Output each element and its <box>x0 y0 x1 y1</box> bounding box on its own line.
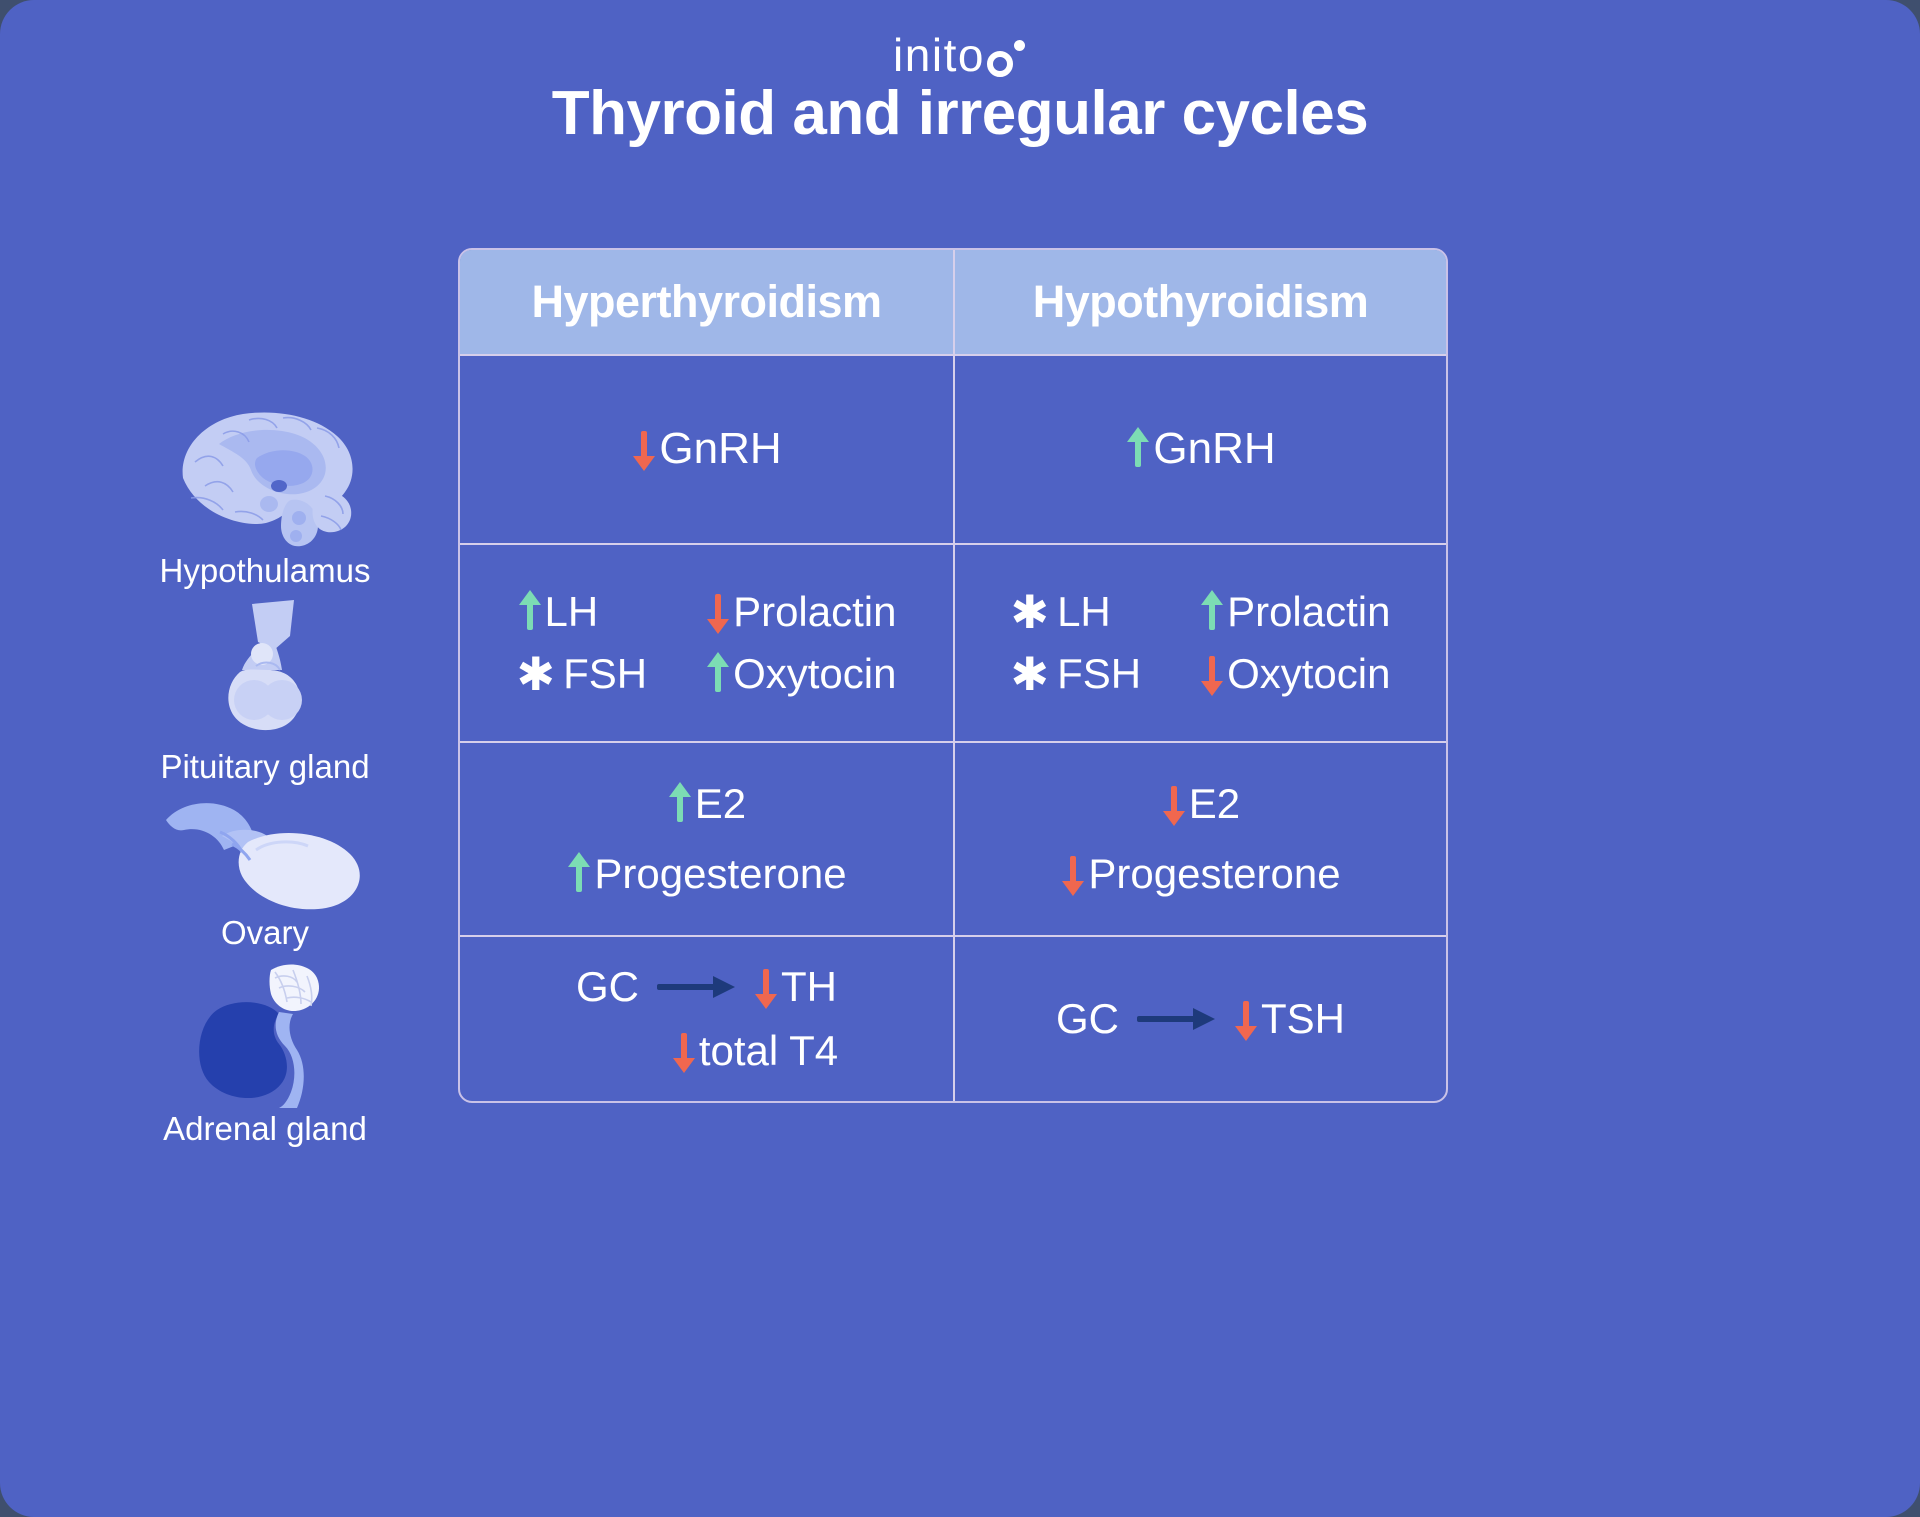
arrow-down-icon <box>1199 652 1225 696</box>
page-title: Thyroid and irregular cycles <box>0 78 1920 149</box>
infographic-page: inito Thyroid and irregular cycles <box>0 0 1920 1517</box>
arrow-down-icon <box>1233 997 1259 1041</box>
entry-label: Progesterone <box>1088 851 1340 897</box>
arrow-down-icon <box>1161 782 1187 826</box>
asterisk-icon: ✱ <box>1011 594 1050 631</box>
entry-lh-star: ✱ LH <box>1011 589 1142 635</box>
entry-label: TSH <box>1261 996 1345 1042</box>
header-label: Hyperthyroidism <box>531 276 881 328</box>
entry-e2-down: E2 <box>1161 781 1240 827</box>
adrenal-gland-icon <box>175 958 355 1108</box>
inito-logo-icon <box>987 38 1027 78</box>
arrow-down-icon <box>671 1029 697 1073</box>
entry-progesterone-up: Progesterone <box>566 851 846 897</box>
entry-progesterone-down: Progesterone <box>1060 851 1340 897</box>
entry-lh-up: LH <box>517 589 648 635</box>
entry-label: FSH <box>1057 651 1141 697</box>
entry-gc-th: GC TH <box>576 964 837 1010</box>
cell-hypo-adrenal: GC TSH <box>953 937 1446 1101</box>
header-label: Hypothyroidism <box>1033 276 1369 328</box>
cell-hypo-ovary: E2 Progesterone <box>953 743 1446 935</box>
anatomy-label-ovary: Ovary <box>221 914 309 952</box>
brand-name: inito <box>893 32 985 78</box>
arrow-up-icon <box>705 652 731 696</box>
cell-hyper-pituitary: LH Prolactin ✱ FSH Oxytocin <box>460 545 953 741</box>
table-row-adrenal: GC TH total T4 GC <box>460 935 1446 1101</box>
entry-label: E2 <box>1189 781 1240 827</box>
table-row-hypothalamus: GnRH GnRH <box>460 354 1446 543</box>
arrow-down-icon <box>1060 852 1086 896</box>
entry-oxytocin-down: Oxytocin <box>1199 651 1390 697</box>
comparison-table: Hyperthyroidism Hypothyroidism GnRH GnRH <box>458 248 1448 1103</box>
arrow-right-icon <box>1137 1009 1215 1029</box>
entry-gnrh-up: GnRH <box>1125 425 1275 473</box>
pituitary-gland-icon <box>190 596 340 746</box>
entry-prefix: GC <box>576 964 639 1010</box>
arrow-up-icon <box>517 590 543 634</box>
cell-hyper-ovary: E2 Progesterone <box>460 743 953 935</box>
entry-gc-tsh: GC TSH <box>1056 996 1345 1042</box>
arrow-down-icon <box>631 427 657 471</box>
entry-gnrh-down: GnRH <box>631 425 781 473</box>
anatomy-label-pituitary: Pituitary gland <box>160 748 369 786</box>
entry-total-t4: total T4 <box>671 1028 838 1074</box>
entry-fsh-star: ✱ FSH <box>1011 651 1142 697</box>
table-header-hyperthyroidism: Hyperthyroidism <box>460 250 953 354</box>
entry-label: Prolactin <box>1227 589 1390 635</box>
entry-label: LH <box>1057 589 1111 635</box>
arrow-up-icon <box>1125 427 1151 471</box>
entry-prolactin-up: Prolactin <box>1199 589 1390 635</box>
brand-logo: inito <box>0 32 1920 78</box>
asterisk-icon: ✱ <box>517 656 556 693</box>
entry-label: LH <box>545 589 599 635</box>
cell-hyper-adrenal: GC TH total T4 <box>460 937 953 1101</box>
entry-fsh-star: ✱ FSH <box>517 651 648 697</box>
arrow-right-icon <box>657 977 735 997</box>
arrow-down-icon <box>705 590 731 634</box>
entry-label: Prolactin <box>733 589 896 635</box>
entry-prefix: GC <box>1056 996 1119 1042</box>
anatomy-item-ovary: Ovary <box>90 792 440 952</box>
anatomy-label-adrenal: Adrenal gland <box>163 1110 367 1148</box>
anatomy-item-pituitary: Pituitary gland <box>90 596 440 786</box>
entry-label: FSH <box>563 651 647 697</box>
cell-hyper-gnrh: GnRH <box>460 356 953 543</box>
entry-label: Oxytocin <box>733 651 896 697</box>
entry-prolactin-down: Prolactin <box>705 589 896 635</box>
brain-icon <box>165 400 365 550</box>
entry-label: TH <box>781 964 837 1010</box>
entry-label: Progesterone <box>594 851 846 897</box>
table-header-hypothyroidism: Hypothyroidism <box>953 250 1446 354</box>
cell-hypo-pituitary: ✱ LH Prolactin ✱ FSH Oxytocin <box>953 545 1446 741</box>
arrow-up-icon <box>667 782 693 826</box>
table-header-row: Hyperthyroidism Hypothyroidism <box>460 250 1446 354</box>
table-row-ovary: E2 Progesterone E2 Progeste <box>460 741 1446 935</box>
entry-label: GnRH <box>1153 425 1275 473</box>
entry-label: E2 <box>695 781 746 827</box>
anatomy-item-hypothalamus: Hypothulamus <box>90 400 440 590</box>
entry-oxytocin-up: Oxytocin <box>705 651 896 697</box>
table-row-pituitary: LH Prolactin ✱ FSH Oxytocin <box>460 543 1446 741</box>
asterisk-icon: ✱ <box>1011 656 1050 693</box>
entry-e2-up: E2 <box>667 781 746 827</box>
entry-label: GnRH <box>659 425 781 473</box>
entry-label: Oxytocin <box>1227 651 1390 697</box>
ovary-icon <box>160 792 370 912</box>
anatomy-item-adrenal: Adrenal gland <box>90 958 440 1148</box>
entry-label: total T4 <box>699 1028 838 1074</box>
arrow-up-icon <box>1199 590 1225 634</box>
arrow-down-icon <box>753 965 779 1009</box>
anatomy-label-hypothalamus: Hypothulamus <box>160 552 371 590</box>
arrow-up-icon <box>566 852 592 896</box>
anatomy-column: Hypothulamus Pituitary gland <box>90 400 440 1154</box>
cell-hypo-gnrh: GnRH <box>953 356 1446 543</box>
